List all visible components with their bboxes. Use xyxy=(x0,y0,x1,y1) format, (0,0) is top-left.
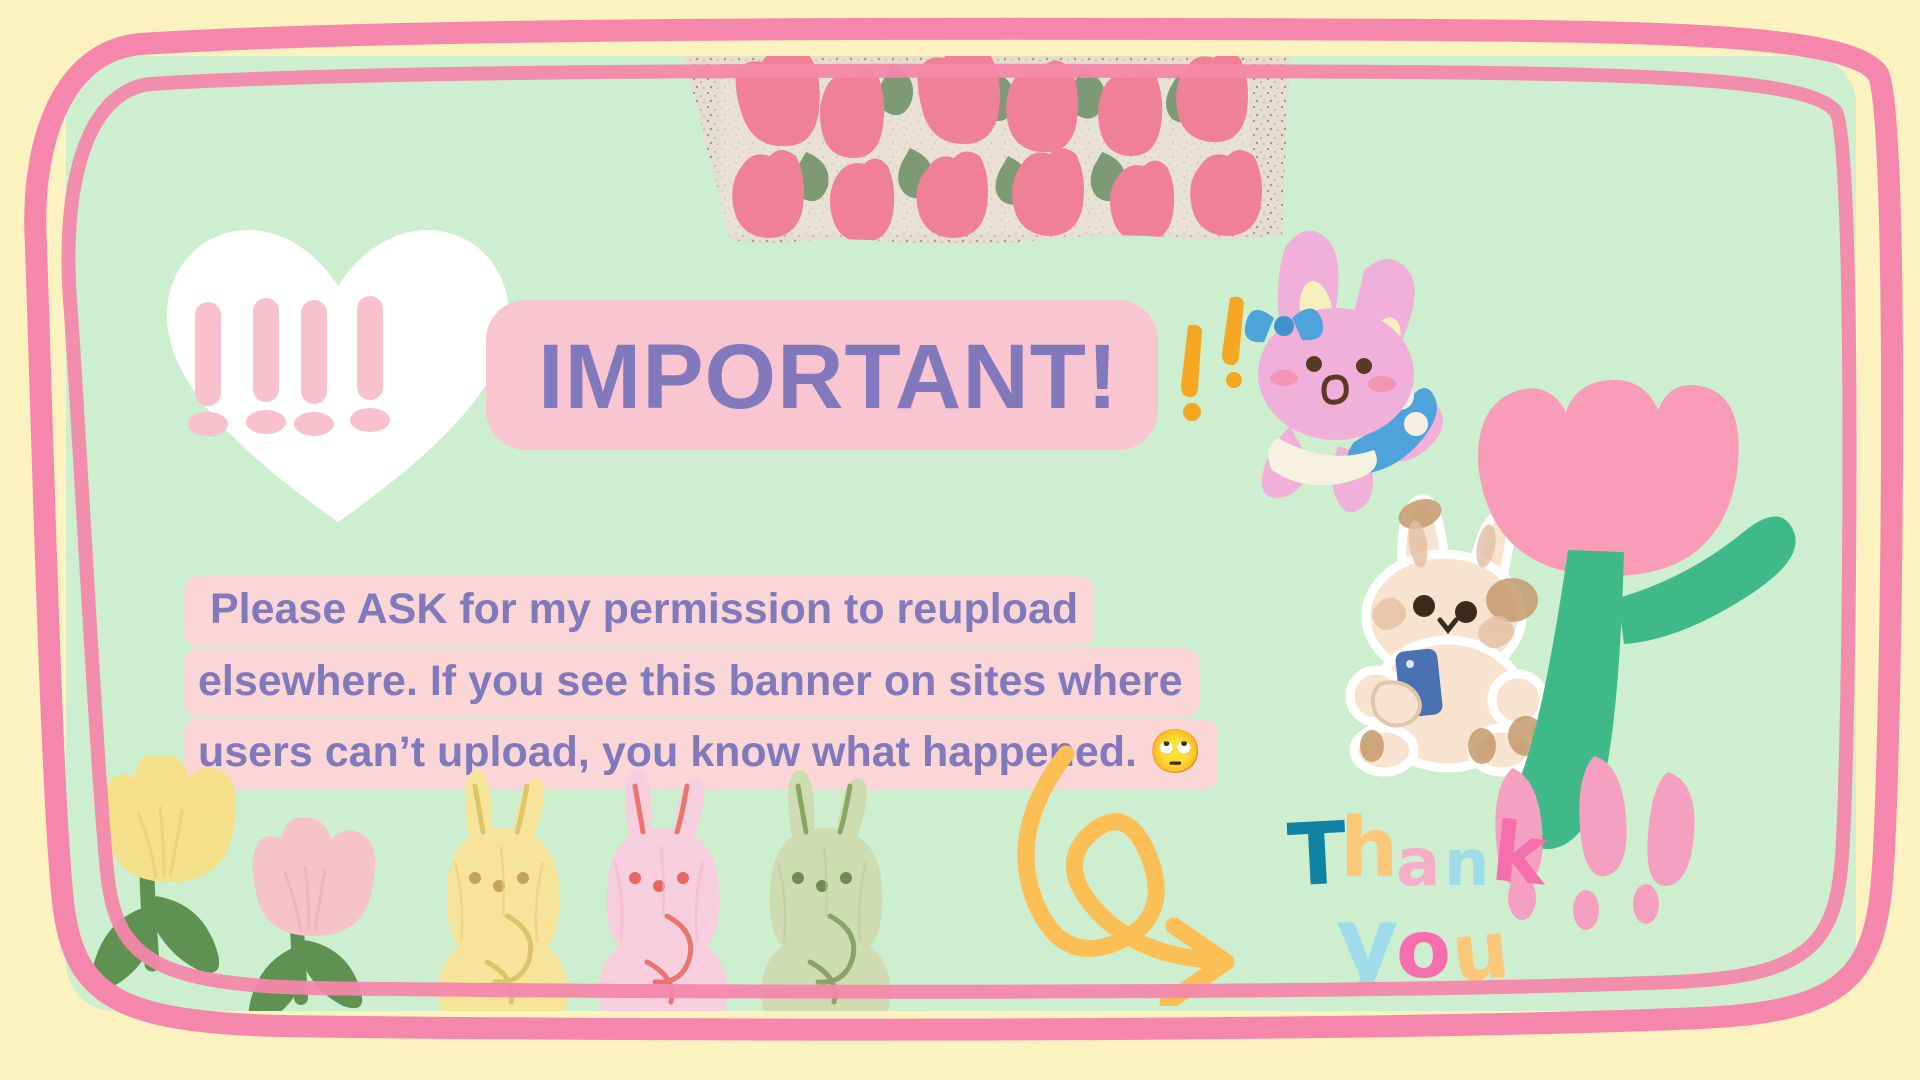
gummy-bunny-green xyxy=(734,766,914,1011)
white-heart-exclamations xyxy=(161,224,516,524)
ty-letter-k: k xyxy=(1488,811,1551,898)
ty-letter-n: n xyxy=(1444,832,1490,896)
curly-arrow xyxy=(996,736,1326,1006)
thank-you-lettering: T h a n k y o u xyxy=(1288,806,1588,1011)
ty-letter-h: h xyxy=(1340,808,1398,890)
ty-letter-y: y xyxy=(1336,894,1399,990)
banner-canvas: IMPORTANT! Please ASK for my permission … xyxy=(0,0,1920,1080)
orange-exclamation-marks xyxy=(1181,297,1244,421)
page-title: IMPORTANT! xyxy=(538,318,1178,436)
gummy-bunny-yellow xyxy=(411,766,591,1011)
ty-letter-o: o xyxy=(1396,910,1451,990)
gummy-bunny-pink xyxy=(571,766,751,1011)
ty-letter-a: a xyxy=(1396,830,1441,896)
notice-line-2: elsewhere. If you see this banner on sit… xyxy=(184,648,1199,718)
ty-letter-u: u xyxy=(1448,909,1513,995)
notice-line-1: Please ASK for my permission to reupload xyxy=(184,576,1094,646)
mint-card: IMPORTANT! Please ASK for my permission … xyxy=(66,56,1856,1011)
